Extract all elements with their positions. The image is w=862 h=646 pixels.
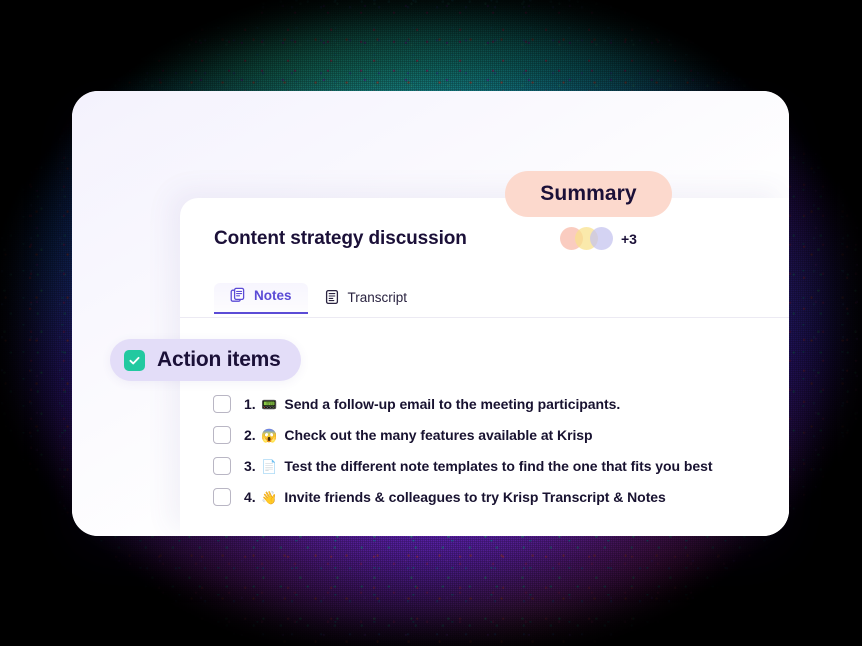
checkbox-checked-icon: [124, 350, 145, 371]
avatar-overflow-count: +3: [621, 231, 637, 247]
action-item-label: Test the different note templates to fin…: [284, 458, 712, 474]
action-items-heading: Action items: [110, 339, 301, 381]
action-item-label: Send a follow-up email to the meeting pa…: [284, 396, 620, 412]
list-item[interactable]: 1. 📟 Send a follow-up email to the meeti…: [213, 395, 712, 413]
participant-avatars[interactable]: +3: [560, 227, 637, 250]
action-item-text: 3. 📄 Test the different note templates t…: [244, 458, 712, 475]
action-item-emoji: 👋: [261, 490, 277, 505]
action-item-emoji: 😱: [261, 428, 277, 443]
action-items-list: 1. 📟 Send a follow-up email to the meeti…: [213, 395, 712, 506]
action-items-heading-label: Action items: [157, 348, 281, 372]
action-item-checkbox[interactable]: [213, 395, 231, 413]
tab-divider: [180, 317, 789, 318]
screenshot-stage: Summary +3 Content strategy discussion: [0, 0, 862, 646]
page-title: Content strategy discussion: [214, 228, 467, 250]
action-item-label: Invite friends & colleagues to try Krisp…: [284, 489, 665, 505]
action-item-emoji: 📟: [261, 397, 277, 412]
notes-icon: [230, 287, 246, 303]
list-item[interactable]: 3. 📄 Test the different note templates t…: [213, 457, 712, 475]
list-item[interactable]: 4. 👋 Invite friends & colleagues to try …: [213, 488, 712, 506]
action-item-label: Check out the many features available at…: [284, 427, 592, 443]
transcript-icon: [324, 289, 340, 305]
tab-bar: Notes Transcript: [214, 283, 423, 314]
action-item-number: 3.: [244, 458, 256, 474]
avatar: [590, 227, 613, 250]
action-item-checkbox[interactable]: [213, 426, 231, 444]
app-window: Summary +3 Content strategy discussion: [72, 91, 789, 536]
action-item-text: 1. 📟 Send a follow-up email to the meeti…: [244, 396, 620, 413]
summary-badge-label: Summary: [540, 182, 636, 206]
action-item-number: 2.: [244, 427, 256, 443]
tab-transcript-label: Transcript: [348, 290, 408, 305]
summary-badge[interactable]: Summary: [505, 171, 672, 217]
tab-notes[interactable]: Notes: [214, 283, 308, 314]
action-item-number: 1.: [244, 396, 256, 412]
tab-notes-label: Notes: [254, 288, 292, 303]
action-item-text: 2. 😱 Check out the many features availab…: [244, 427, 593, 444]
action-item-checkbox[interactable]: [213, 457, 231, 475]
list-item[interactable]: 2. 😱 Check out the many features availab…: [213, 426, 712, 444]
action-item-number: 4.: [244, 489, 256, 505]
action-item-emoji: 📄: [261, 459, 277, 474]
action-item-text: 4. 👋 Invite friends & colleagues to try …: [244, 489, 666, 506]
tab-transcript[interactable]: Transcript: [308, 285, 424, 314]
action-item-checkbox[interactable]: [213, 488, 231, 506]
